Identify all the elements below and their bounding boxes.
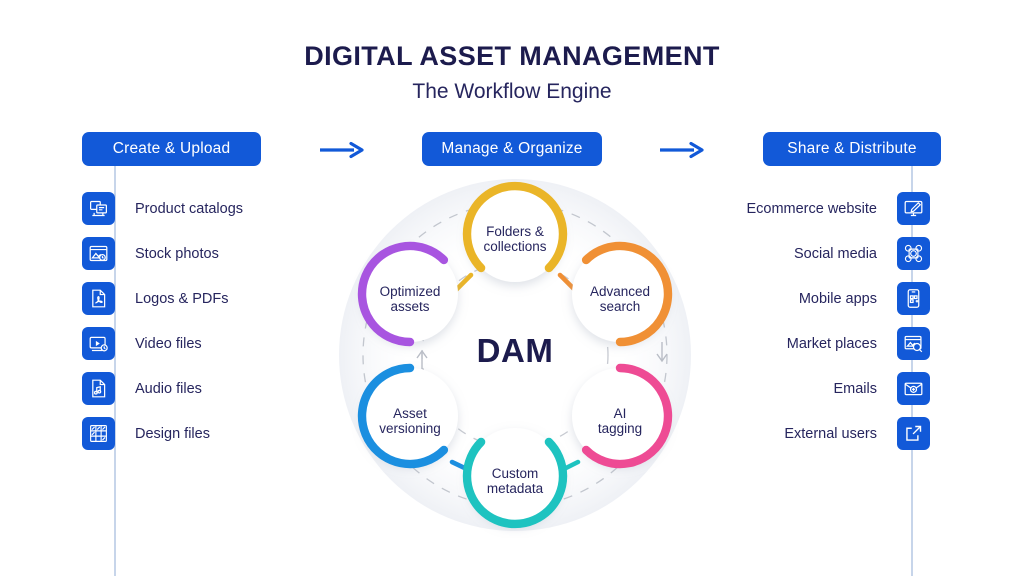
- mobile-app-icon: [897, 282, 930, 315]
- desktop-edit-icon: [897, 192, 930, 225]
- product-catalog-icon: [82, 192, 115, 225]
- list-item[interactable]: Ecommerce website: [740, 186, 930, 231]
- dam-center-label: DAM: [332, 332, 698, 370]
- page-title: DIGITAL ASSET MANAGEMENT: [0, 41, 1024, 72]
- list-item[interactable]: Market places: [740, 321, 930, 366]
- dam-workflow-wheel: DAM Folders & collections Advanced searc…: [332, 172, 698, 538]
- list-item[interactable]: Design files: [82, 411, 312, 456]
- node-label-line1: Optimized: [364, 284, 456, 299]
- list-item-label: Mobile apps: [799, 291, 877, 307]
- node-label-line2: search: [574, 299, 666, 314]
- list-item-label: Product catalogs: [135, 201, 243, 217]
- node-label-line1: Advanced: [574, 284, 666, 299]
- arrow-right-icon-2: [658, 141, 706, 159]
- node-label-line2: assets: [364, 299, 456, 314]
- node-label-line1: Custom: [469, 466, 561, 481]
- page-subtitle: The Workflow Engine: [0, 80, 1024, 104]
- node-label-line2: versioning: [364, 421, 456, 436]
- list-item[interactable]: Audio files: [82, 366, 312, 411]
- arrow-right-icon-1: [318, 141, 366, 159]
- node-label-asset-versioning[interactable]: Asset versioning: [364, 406, 456, 436]
- audio-file-icon: [82, 372, 115, 405]
- list-item-label: Emails: [833, 381, 877, 397]
- node-label-ai-tagging[interactable]: AI tagging: [574, 406, 666, 436]
- node-label-custom-metadata[interactable]: Custom metadata: [469, 466, 561, 496]
- list-item-label: Design files: [135, 426, 210, 442]
- node-label-line1: AI: [574, 406, 666, 421]
- node-label-folders-collections[interactable]: Folders & collections: [469, 224, 561, 254]
- share-distribute-list: Ecommerce website Social media: [740, 186, 930, 456]
- node-label-line2: collections: [469, 239, 561, 254]
- list-item-label: Video files: [135, 336, 202, 352]
- list-item[interactable]: Product catalogs: [82, 186, 312, 231]
- list-item[interactable]: Stock photos: [82, 231, 312, 276]
- video-file-icon: [82, 327, 115, 360]
- list-item-label: Social media: [794, 246, 877, 262]
- section-header-manage-organize[interactable]: Manage & Organize: [422, 132, 602, 166]
- external-link-icon: [897, 417, 930, 450]
- node-label-line2: metadata: [469, 481, 561, 496]
- node-label-optimized-assets[interactable]: Optimized assets: [364, 284, 456, 314]
- pdf-file-icon: [82, 282, 115, 315]
- node-label-advanced-search[interactable]: Advanced search: [574, 284, 666, 314]
- list-item[interactable]: Mobile apps: [740, 276, 930, 321]
- node-label-line2: tagging: [574, 421, 666, 436]
- social-network-icon: [897, 237, 930, 270]
- create-upload-list: Product catalogs Stock photos: [82, 186, 312, 456]
- infographic-canvas: DIGITAL ASSET MANAGEMENT The Workflow En…: [0, 0, 1024, 576]
- list-item-label: Audio files: [135, 381, 202, 397]
- list-item-label: Ecommerce website: [746, 201, 877, 217]
- list-item[interactable]: Social media: [740, 231, 930, 276]
- list-item-label: Logos & PDFs: [135, 291, 229, 307]
- stock-photo-icon: [82, 237, 115, 270]
- design-file-icon: [82, 417, 115, 450]
- list-item-label: Market places: [787, 336, 877, 352]
- email-envelope-icon: [897, 372, 930, 405]
- section-header-share-distribute[interactable]: Share & Distribute: [763, 132, 941, 166]
- node-label-line1: Folders &: [469, 224, 561, 239]
- section-header-create-upload[interactable]: Create & Upload: [82, 132, 261, 166]
- list-item[interactable]: External users: [740, 411, 930, 456]
- list-item-label: External users: [784, 426, 877, 442]
- list-item[interactable]: Video files: [82, 321, 312, 366]
- marketplace-search-icon: [897, 327, 930, 360]
- list-item[interactable]: Logos & PDFs: [82, 276, 312, 321]
- list-item[interactable]: Emails: [740, 366, 930, 411]
- list-item-label: Stock photos: [135, 246, 219, 262]
- node-label-line1: Asset: [364, 406, 456, 421]
